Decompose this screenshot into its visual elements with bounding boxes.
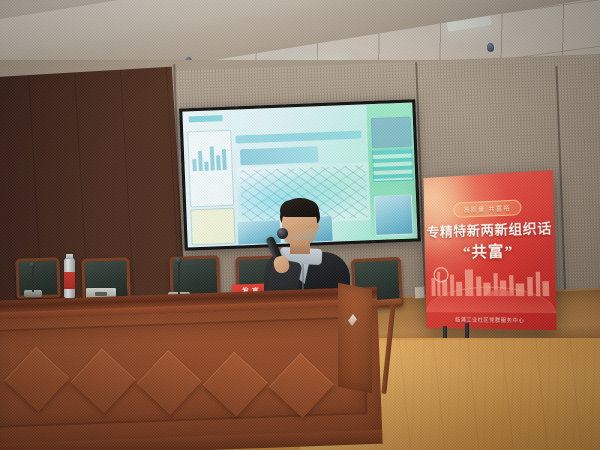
wall-outlet-icon-2 (414, 286, 426, 299)
slide-left-panel-2 (190, 208, 235, 246)
table-end-panel (338, 283, 372, 394)
slide-data-grid (372, 148, 413, 182)
poster-footer-org: 临浦工业社区党群服务中心 (426, 316, 556, 325)
bottle-cap (66, 254, 73, 259)
speaker-hair-front (280, 200, 319, 217)
event-poster: 高质量 共富裕 专精特新两新组织话 “共富” (423, 170, 556, 330)
poster-title: 专精特新两新组织话 (424, 217, 554, 241)
slide-title-bar (235, 131, 361, 144)
conference-table (0, 287, 383, 450)
speaker-ear (312, 222, 319, 231)
table-front-panel (0, 306, 382, 450)
slide-header-bar (189, 115, 223, 122)
microphone-stalk-2 (32, 266, 34, 292)
conference-room-photo: 高质量 共富裕 专精特新两新组织话 “共富” (0, 0, 600, 450)
microphone-stalk (178, 262, 180, 294)
slide-right-panel (371, 117, 412, 149)
ceiling-spot-icon-2 (487, 43, 495, 52)
water-bottle (64, 258, 75, 298)
poster-badge: 高质量 共富裕 (453, 199, 521, 217)
slide-heading-block (240, 146, 319, 165)
poster-subtitle: “共富” (425, 238, 555, 263)
bottle-label (64, 272, 75, 289)
handheld-microphone-head-icon (277, 228, 288, 239)
microphone-head-icon (175, 257, 182, 264)
slide-thumbnail-1 (374, 195, 414, 236)
microphone-head-icon-2 (29, 262, 35, 268)
slide-bar-chart (192, 144, 227, 171)
